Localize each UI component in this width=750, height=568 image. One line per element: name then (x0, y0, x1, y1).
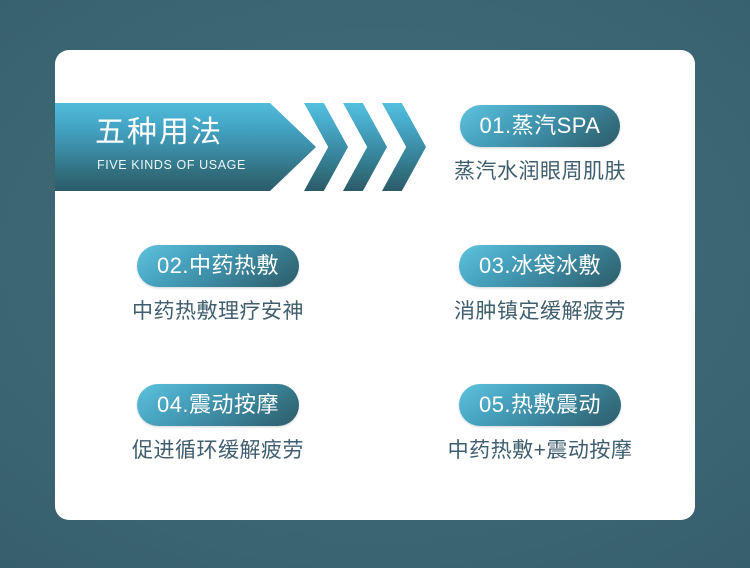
usage-description: 中药热敷+震动按摩 (395, 438, 685, 464)
usage-label-wrap: 01.蒸汽SPA (395, 105, 685, 147)
poster-background: 五种用法 FIVE KINDS OF USAGE 01.蒸汽SPA 蒸汽水润眼周… (0, 0, 750, 568)
usage-description: 中药热敷理疗安神 (73, 299, 363, 325)
usage-label-wrap: 03.冰袋冰敷 (395, 245, 685, 287)
usage-description: 消肿镇定缓解疲劳 (395, 299, 685, 325)
usage-item: 04.震动按摩 促进循环缓解疲劳 (73, 384, 363, 464)
section-heading-banner: 五种用法 FIVE KINDS OF USAGE (55, 103, 270, 191)
usage-description: 蒸汽水润眼周肌肤 (395, 159, 685, 185)
usage-item: 01.蒸汽SPA 蒸汽水润眼周肌肤 (395, 105, 685, 185)
usage-item: 02.中药热敷 中药热敷理疗安神 (73, 245, 363, 325)
usage-label-wrap: 02.中药热敷 (73, 245, 363, 287)
usage-label-badge: 02.中药热敷 (137, 245, 299, 287)
section-title: 五种用法 (95, 114, 223, 152)
usage-label-wrap: 04.震动按摩 (73, 384, 363, 426)
usage-item: 05.热敷震动 中药热敷+震动按摩 (395, 384, 685, 464)
usage-label-badge: 04.震动按摩 (137, 384, 299, 426)
usage-label-wrap: 05.热敷震动 (395, 384, 685, 426)
usage-label-badge: 03.冰袋冰敷 (459, 245, 621, 287)
usage-label-badge: 05.热敷震动 (459, 384, 621, 426)
usage-label-badge: 01.蒸汽SPA (460, 105, 621, 147)
section-subtitle: FIVE KINDS OF USAGE (97, 157, 246, 173)
usage-description: 促进循环缓解疲劳 (73, 438, 363, 464)
usage-item: 03.冰袋冰敷 消肿镇定缓解疲劳 (395, 245, 685, 325)
content-card: 五种用法 FIVE KINDS OF USAGE 01.蒸汽SPA 蒸汽水润眼周… (55, 50, 695, 520)
